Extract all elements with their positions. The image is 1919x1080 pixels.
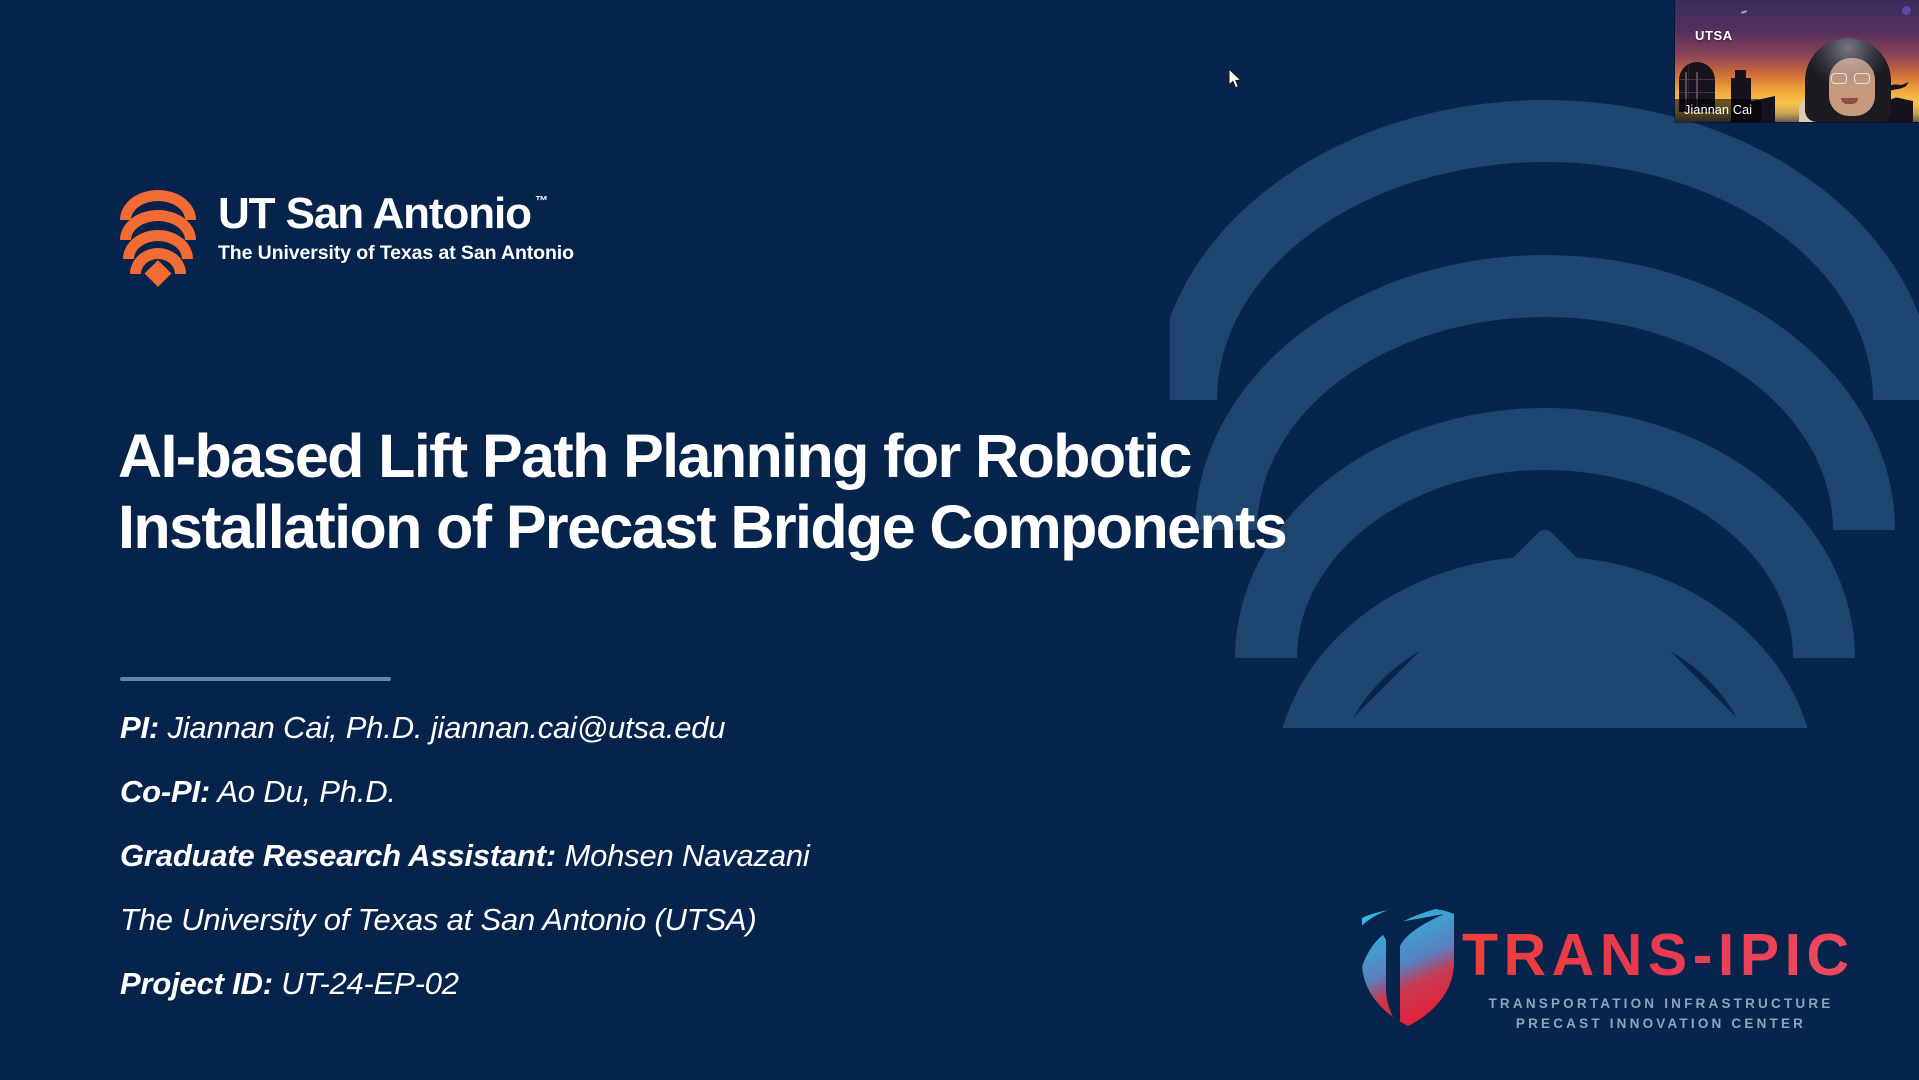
byline-label-copi: Co-PI: [120, 774, 210, 809]
byline-label-project-id: Project ID: [120, 966, 273, 1001]
trans-ipic-logo: TRANS-IPIC TRANSPORTATION INFRASTRUCTURE… [1348, 898, 1848, 1033]
trans-ipic-subtitle-line1: TRANSPORTATION INFRASTRUCTURE [1466, 994, 1856, 1014]
byline-row-pi: PI: Jiannan Cai, Ph.D. jiannan.cai@utsa.… [120, 712, 1320, 743]
utsa-wordmark: UT San Antonio ™ [218, 192, 531, 237]
trans-ipic-wordmark: TRANS-IPIC [1462, 926, 1855, 985]
participant-name-label: Jiannan Cai [1675, 99, 1761, 122]
trans-ipic-subtitle: TRANSPORTATION INFRASTRUCTURE PRECAST IN… [1466, 994, 1856, 1033]
byline-value-institution: The University of Texas at San Antonio (… [120, 902, 757, 937]
trans-ipic-shield-icon [1348, 900, 1466, 1028]
byline-value-project-id: UT-24-EP-02 [281, 966, 459, 1001]
byline-row-project-id: Project ID: UT-24-EP-02 [120, 968, 1320, 999]
byline-value-gra-name: Mohsen Navazani [564, 838, 809, 873]
utsa-paseo-watermark-icon [1170, 88, 1919, 728]
trademark-icon: ™ [535, 194, 548, 207]
participant-video-tile[interactable]: UTSA Jiannan Cai [1675, 0, 1919, 122]
byline-row-institution: The University of Texas at San Antonio (… [120, 904, 1320, 935]
status-dot-icon [1902, 6, 1911, 15]
byline-row-gra: Graduate Research Assistant: Mohsen Nava… [120, 840, 1320, 871]
byline-label-gra: Graduate Research Assistant: [120, 838, 556, 873]
presenter-info-block: PI: Jiannan Cai, Ph.D. jiannan.cai@utsa.… [120, 712, 1320, 999]
utsa-logo-lockup: UT San Antonio ™ The University of Texas… [120, 190, 574, 282]
presentation-slide: UT San Antonio ™ The University of Texas… [0, 0, 1919, 1080]
screen-share-viewport: UT San Antonio ™ The University of Texas… [0, 0, 1919, 1080]
byline-row-copi: Co-PI: Ao Du, Ph.D. [120, 776, 1320, 807]
building-tower-top-icon [1735, 70, 1746, 82]
utsa-wordmark-text: UT San Antonio [218, 189, 531, 238]
title-divider-rule [120, 677, 391, 681]
trans-ipic-subtitle-line2: PRECAST INNOVATION CENTER [1466, 1014, 1856, 1034]
utsa-paseo-shield-icon [120, 190, 196, 282]
byline-value-pi: Jiannan Cai, Ph.D. jiannan.cai@utsa.edu [167, 710, 725, 745]
byline-label-pi: PI: [120, 710, 159, 745]
slide-title: AI-based Lift Path Planning for Robotic … [118, 421, 1438, 563]
utsa-background-logo: UTSA [1695, 28, 1733, 43]
utsa-tagline: The University of Texas at San Antonio [218, 242, 574, 265]
participant-avatar [1799, 36, 1907, 122]
byline-value-copi: Ao Du, Ph.D. [217, 774, 396, 809]
